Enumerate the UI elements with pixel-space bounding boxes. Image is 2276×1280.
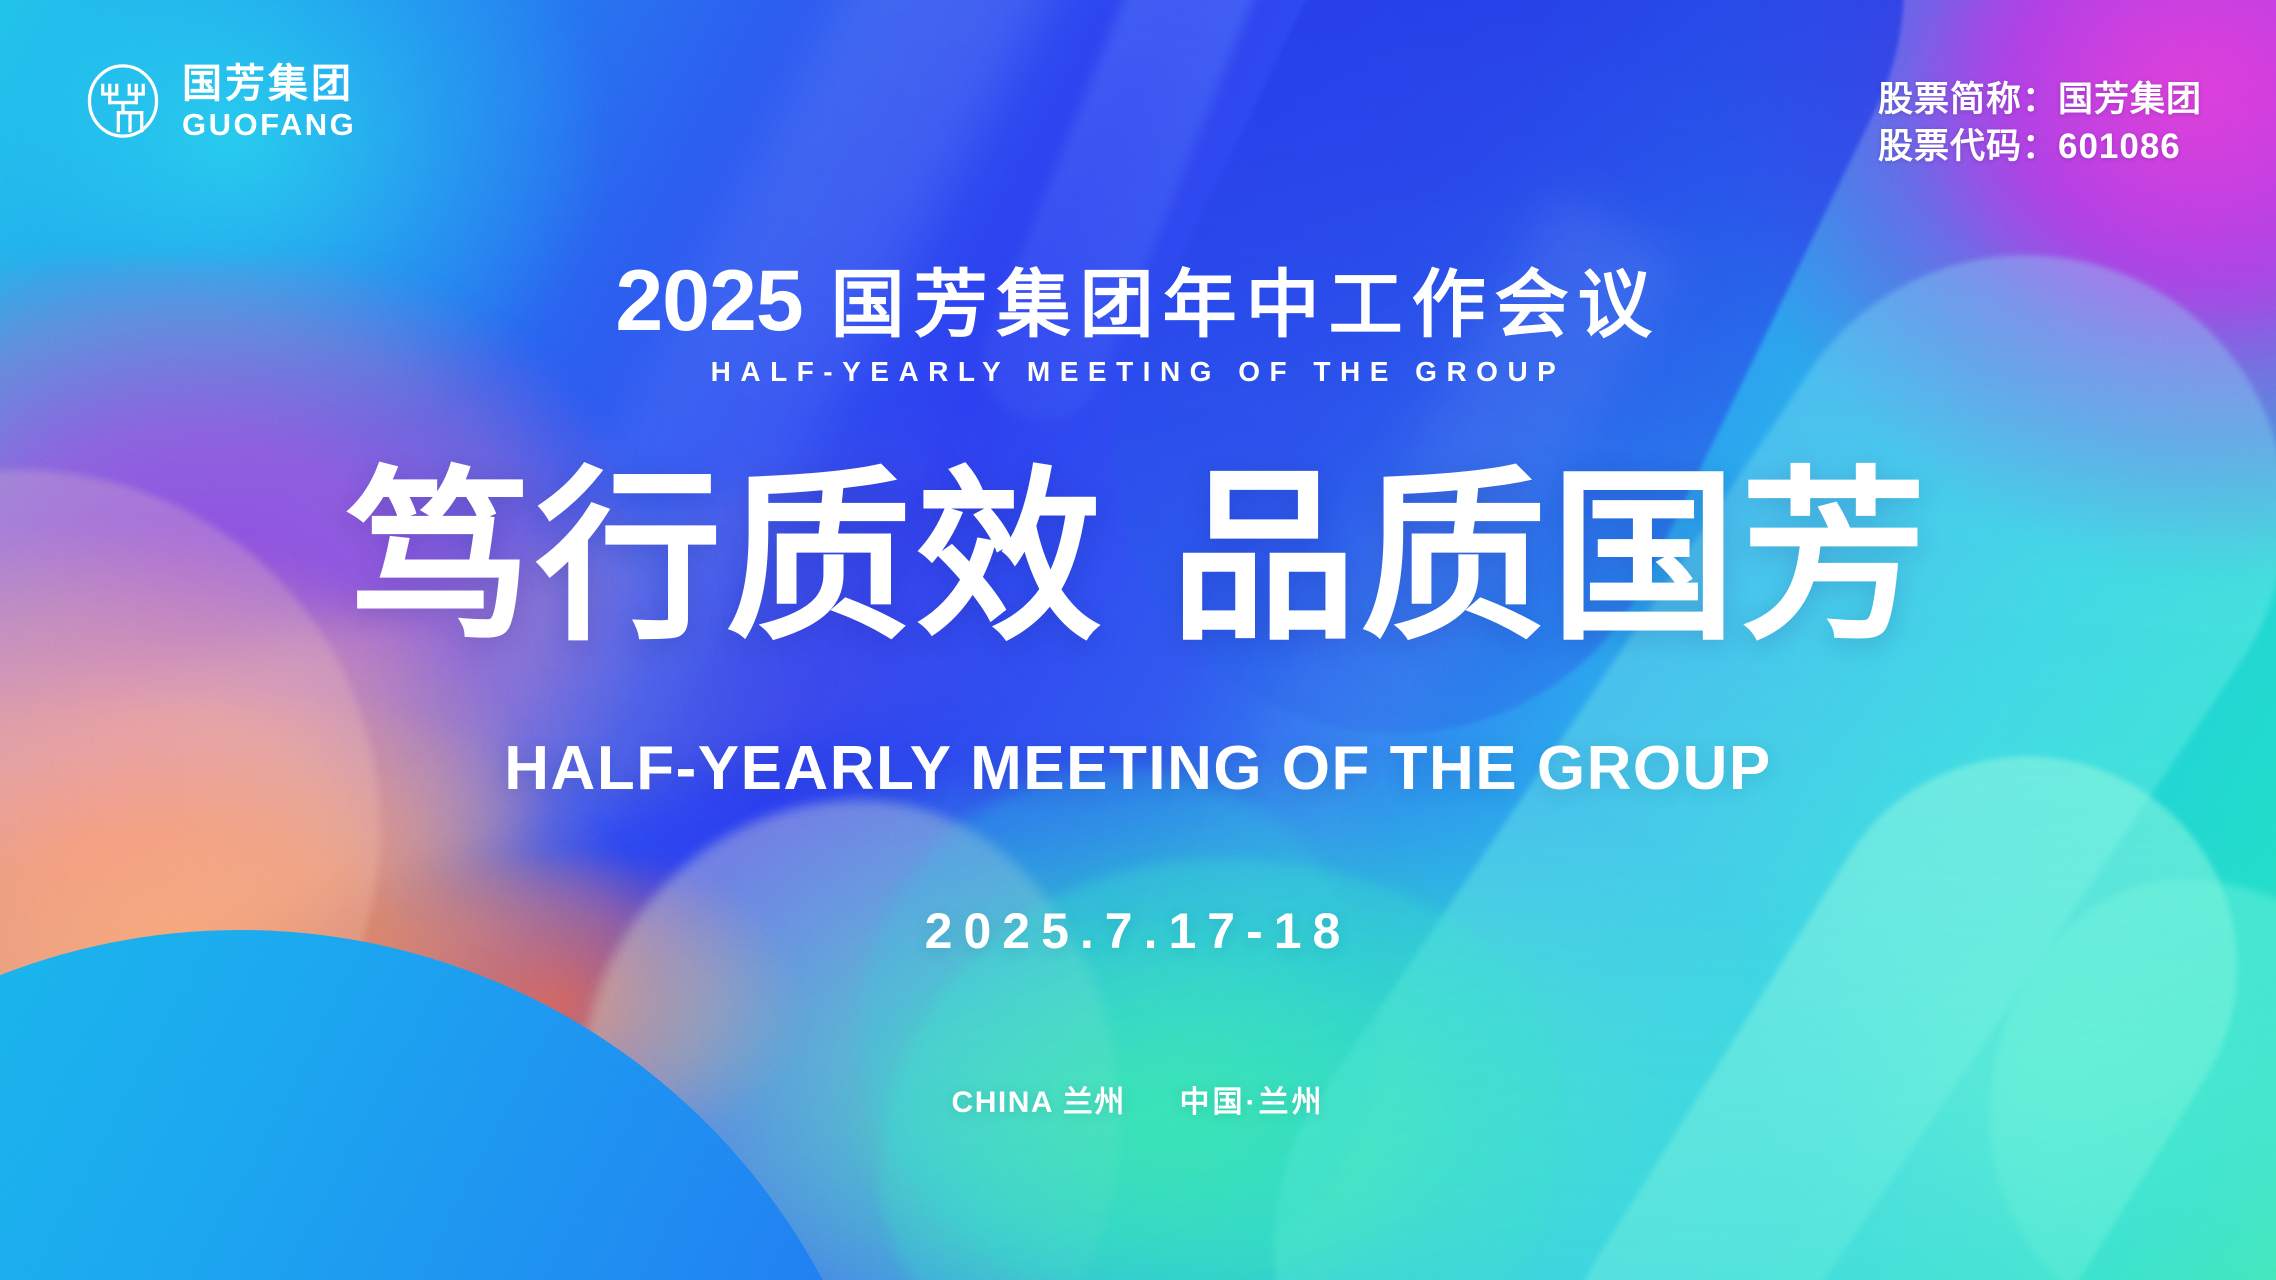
slogan-part-one: 笃行质效 [346, 455, 1106, 662]
event-location-en: CHINA 兰州 [952, 1086, 1126, 1119]
guofang-deer-circle-logo-icon [84, 62, 162, 140]
slogan-block: 笃行质效 品质国芳 [0, 462, 2276, 655]
event-location-cn: 中国·兰州 [1179, 1086, 1324, 1119]
slogan-part-two: 品质国芳 [1170, 455, 1930, 662]
slogan-english: HALF-YEARLY MEETING OF THE GROUP [0, 738, 2276, 800]
event-title-block: 2025 国芳集团年中工作会议 HALF-YEARLY MEETING OF T… [0, 258, 2276, 386]
stock-info: 股票简称：国芳集团 股票代码：601086 [1878, 76, 2202, 171]
event-title-year: 2025 [615, 258, 802, 344]
brand-name-en: GUOFANG [182, 109, 356, 140]
event-date: 2025.7.17-18 [0, 906, 2276, 956]
brand-name-cn: 国芳集团 [182, 64, 356, 106]
brand-logo-text: 国芳集团 GUOFANG [182, 64, 356, 140]
event-title-cn: 国芳集团年中工作会议 [823, 268, 1661, 342]
stock-name-line: 股票简称：国芳集团 [1878, 76, 2202, 123]
event-location: CHINA 兰州 中国·兰州 [0, 1088, 2276, 1118]
event-title-main: 2025 国芳集团年中工作会议 [615, 258, 1660, 344]
event-title-subtitle-en: HALF-YEARLY MEETING OF THE GROUP [0, 358, 2276, 386]
conference-banner: 国芳集团 GUOFANG 股票简称：国芳集团 股票代码：601086 2025 … [0, 0, 2276, 1280]
brand-logo: 国芳集团 GUOFANG [84, 62, 356, 140]
stock-code-line: 股票代码：601086 [1878, 123, 2202, 170]
